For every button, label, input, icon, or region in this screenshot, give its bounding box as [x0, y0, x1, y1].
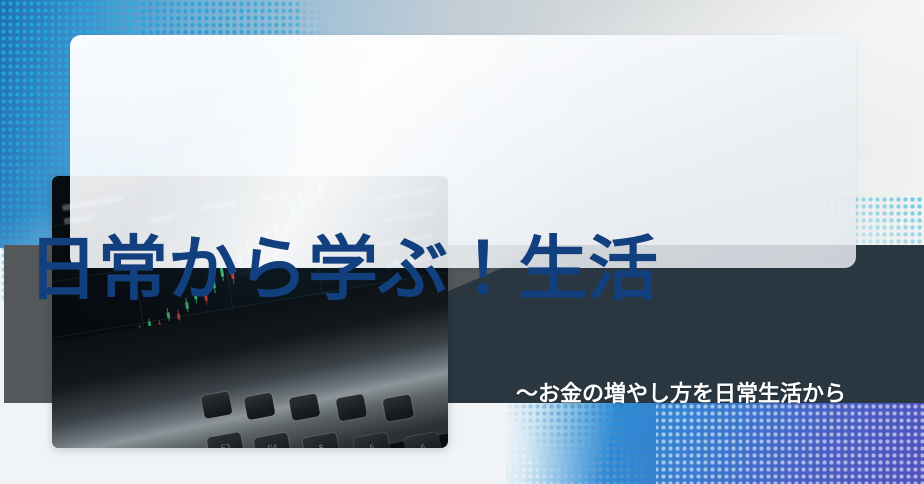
page-subtitle: 〜お金の増やし方を日常生活から 学び、賢く資産形成する方法〜	[450, 280, 912, 484]
banner-canvas: F3F4$56 日常から学ぶ！生活 に活かせる投資思考 〜お金の増やし方を日常生…	[0, 0, 924, 484]
subtitle-line-1: 〜お金の増やし方を日常生活から	[450, 372, 912, 418]
